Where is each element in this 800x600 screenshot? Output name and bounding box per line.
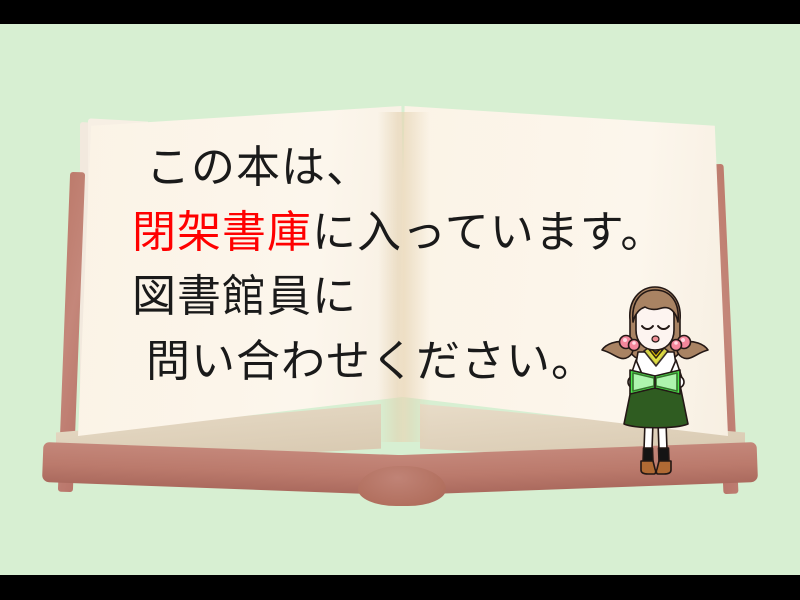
shoe-left-icon bbox=[641, 461, 656, 474]
letterbox-top bbox=[0, 0, 800, 24]
message-highlight-closed-stacks: 閉架書庫 bbox=[132, 208, 312, 257]
message-line-1: この本は、 bbox=[132, 136, 692, 201]
mouth-icon bbox=[652, 336, 659, 342]
letterbox-bottom bbox=[0, 575, 800, 600]
girl-reading-book-illustration bbox=[600, 282, 710, 482]
book-cover-bottom-left bbox=[42, 442, 401, 495]
shoe-right-icon bbox=[656, 461, 671, 474]
message-line-2: 閉架書庫に入っています。 bbox=[132, 201, 692, 266]
legwarmer-right-icon bbox=[659, 448, 670, 462]
legwarmer-left-icon bbox=[643, 448, 653, 462]
message-line-2-suffix: に入っています。 bbox=[312, 208, 665, 257]
book-spine-knob bbox=[358, 466, 446, 506]
slide-background: この本は、 閉架書庫に入っています。 図書館員に 問い合わせください。 bbox=[0, 24, 800, 575]
slide-canvas: この本は、 閉架書庫に入っています。 図書館員に 問い合わせください。 bbox=[0, 0, 800, 600]
